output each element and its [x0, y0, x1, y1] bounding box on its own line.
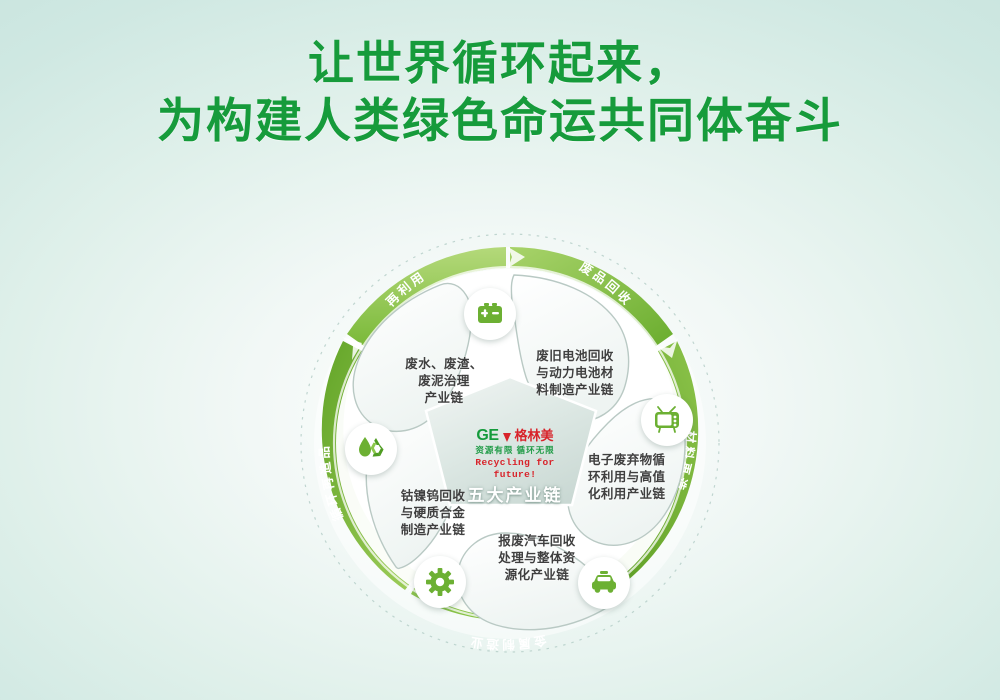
tv-icon-bubble[interactable] [641, 394, 693, 446]
gem-logo-wordmark: GE 格林美 [455, 428, 575, 444]
page-title: 让世界循环起来， 为构建人类绿色命运共同体奋斗 [0, 34, 1000, 150]
petal-label-waste: 废水、废渣、 废泥治理 产业链 [392, 356, 496, 407]
gem-logo-chinese: 格林美 [515, 428, 554, 444]
gear-icon [425, 567, 455, 597]
gear-icon-bubble[interactable] [414, 556, 466, 608]
gem-logo-letters: GE [476, 428, 498, 444]
gem-logo: GE 格林美 资源有限 循环无限 Recycling for future! [455, 428, 575, 481]
petal-label-auto: 报废汽车回收 处理与整体资 源化产业链 [481, 533, 593, 584]
title-line-2: 为构建人类绿色命运共同体奋斗 [0, 92, 1000, 150]
car-icon [589, 568, 619, 598]
battery-icon-bubble[interactable] [464, 288, 516, 340]
petal-label-battery: 废旧电池回收 与动力电池材 料制造产业链 [516, 348, 634, 399]
recycle-drop-icon [355, 434, 387, 464]
center-caption: 五大产业链 [455, 481, 575, 506]
recycle-drop-icon-bubble[interactable] [345, 423, 397, 475]
car-icon-bubble[interactable] [578, 557, 630, 609]
tv-icon [652, 405, 682, 435]
petal-label-ewaste: 电子废弃物循 环利用与高值 化利用产业链 [588, 452, 684, 503]
gem-logo-slogan: 资源有限 循环无限 [455, 445, 575, 456]
battery-icon [475, 299, 505, 329]
gem-logo-english: Recycling for future! [455, 457, 575, 481]
gem-logo-triangle-icon [503, 433, 511, 442]
title-line-1: 让世界循环起来， [0, 34, 1000, 92]
